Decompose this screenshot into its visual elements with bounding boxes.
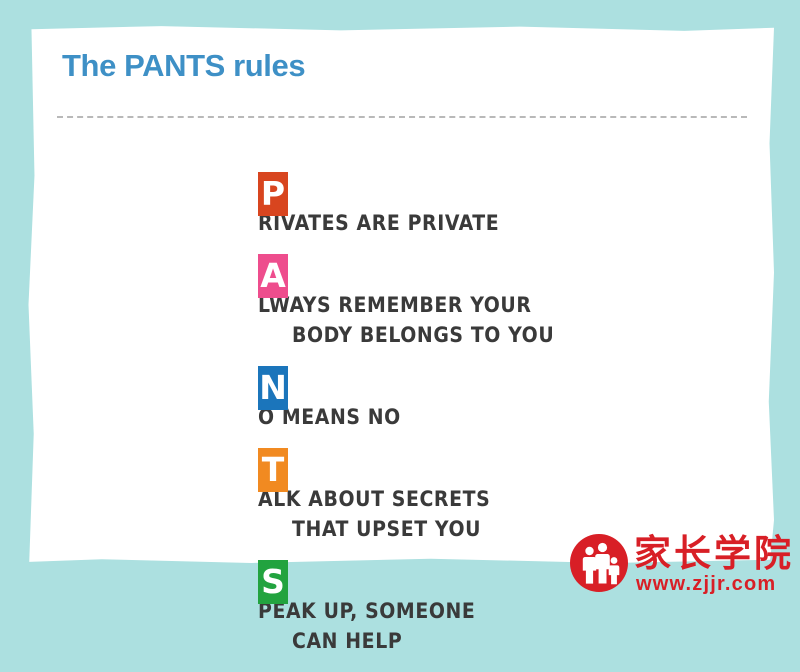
rule-letter-tile-s: S: [258, 560, 288, 604]
rule-text-line-1: O MEANS NO: [258, 396, 728, 432]
watermark-logo: 家长学院 www.zjjr.com: [570, 532, 792, 598]
rule-text: LWAYS REMEMBER YOUR BODY BELONGS TO YOU: [258, 257, 728, 350]
list-item: T ALK ABOUT SECRETS THAT UPSET YOU: [258, 448, 728, 544]
family-circle-icon: [570, 534, 628, 592]
list-item: A LWAYS REMEMBER YOUR BODY BELONGS TO YO…: [258, 254, 728, 350]
rule-letter-tile-a: A: [258, 254, 288, 298]
page-title: The PANTS rules: [62, 48, 305, 84]
rule-text-line-1: RIVATES ARE PRIVATE: [258, 202, 728, 238]
rule-text-line-2: BODY BELONGS TO YOU: [258, 320, 728, 350]
rule-text: O MEANS NO: [258, 369, 728, 432]
rule-letter-tile-p: P: [258, 172, 288, 216]
rule-text-line-1: LWAYS REMEMBER YOUR: [258, 284, 728, 320]
rule-letter-tile-t: T: [258, 448, 288, 492]
brand-name-cn: 家长学院: [634, 532, 794, 574]
rule-text-line-1: ALK ABOUT SECRETS: [258, 478, 728, 514]
rule-text-line-2: CAN HELP: [258, 626, 728, 656]
list-item: P RIVATES ARE PRIVATE: [258, 172, 728, 238]
slide-canvas: The PANTS rules P RIVATES ARE PRIVATE A …: [0, 0, 800, 601]
rule-text: RIVATES ARE PRIVATE: [258, 175, 728, 238]
title-divider: [57, 116, 747, 118]
brand-url: www.zjjr.com: [636, 573, 776, 596]
rule-letter-tile-n: N: [258, 366, 288, 410]
list-item: N O MEANS NO: [258, 366, 728, 432]
